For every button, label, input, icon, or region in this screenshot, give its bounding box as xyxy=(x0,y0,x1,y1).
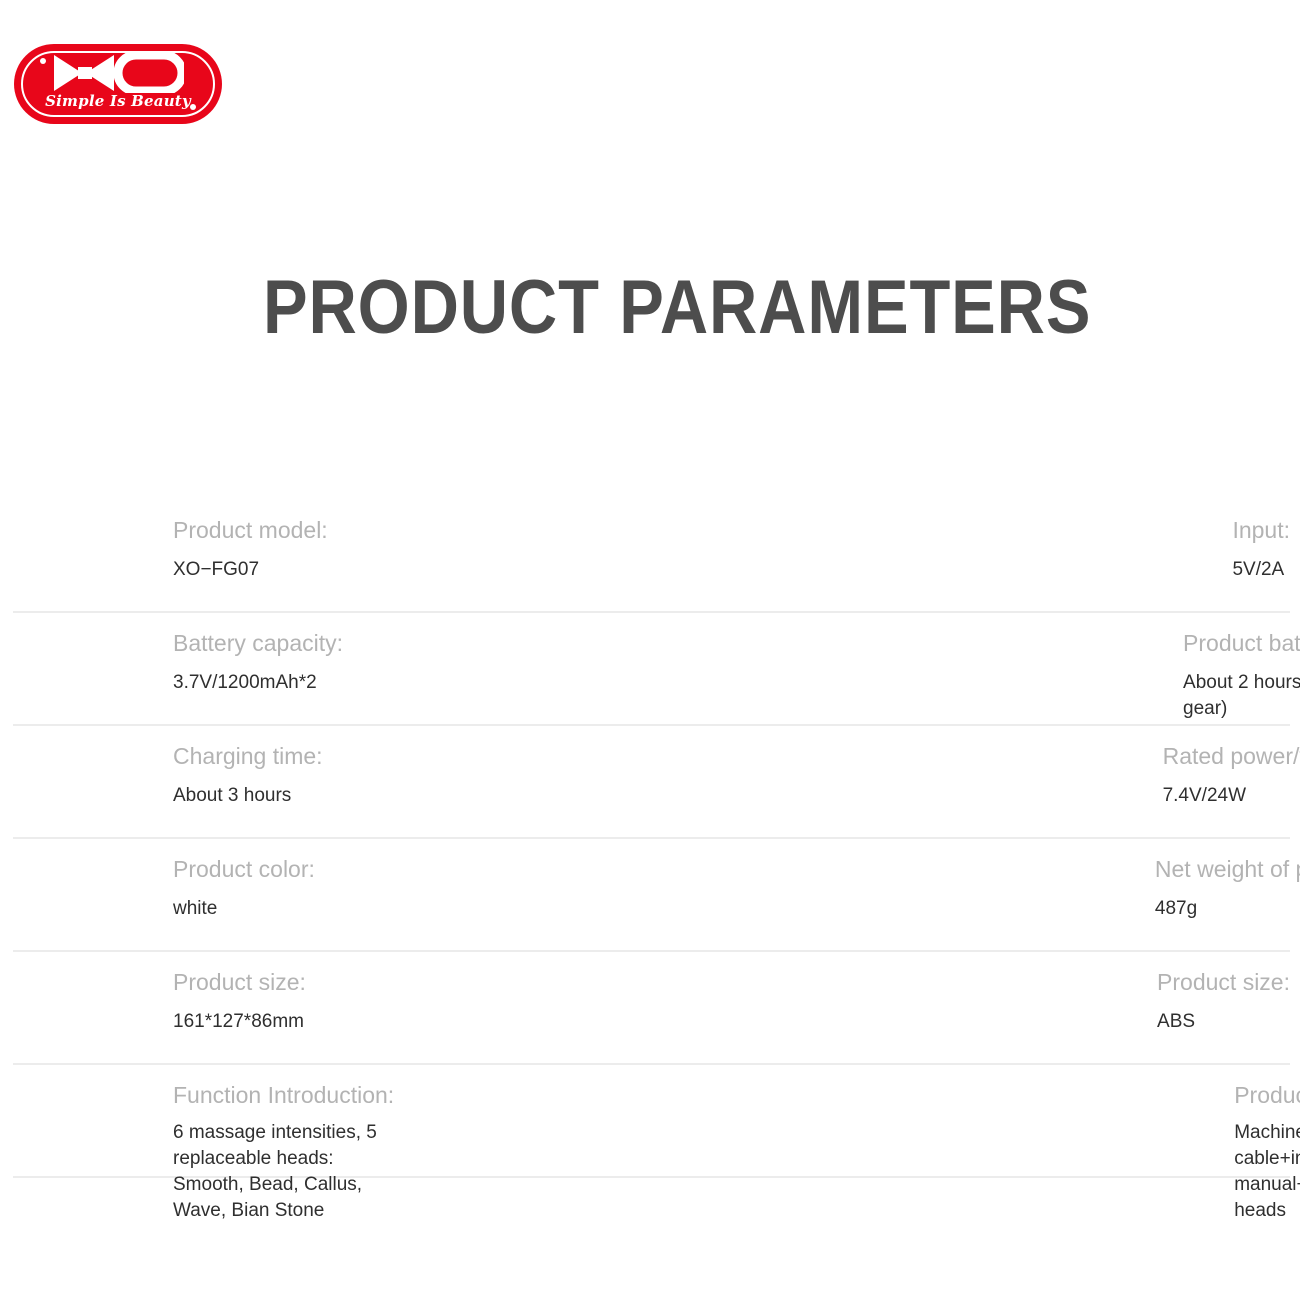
xo-brand-logo: Simple Is Beauty xyxy=(14,44,222,124)
spec-label: Charging time: xyxy=(173,741,323,771)
spec-value: 6 massage intensities, 5 replaceable hea… xyxy=(173,1120,394,1224)
spec-label: Product color: xyxy=(173,854,315,884)
spec-value: About 3 hours xyxy=(173,783,323,809)
product-parameters-table: Product model: XO−FG07 Input: 5V/2A Batt… xyxy=(13,500,1290,1178)
spec-cell-right: Net weight of product: 487g xyxy=(315,839,1300,950)
spec-cell-left: Product model: XO−FG07 xyxy=(13,500,392,611)
spec-cell-left: Charging time: About 3 hours xyxy=(13,726,323,837)
spec-value: white xyxy=(173,896,315,922)
spec-value: 161*127*86mm xyxy=(173,1009,317,1035)
spec-label: Input: xyxy=(1232,515,1290,545)
spec-value: About 2 hours (lowest gear) xyxy=(1183,670,1300,722)
spec-label: Rated power/voltage: xyxy=(1163,741,1300,771)
spec-label: Battery capacity: xyxy=(173,628,343,658)
spec-row: Charging time: About 3 hours Rated power… xyxy=(13,726,1290,839)
spec-cell-right: Product accessories: Machine+charging ca… xyxy=(394,1065,1300,1176)
xo-monogram-icon xyxy=(14,53,222,93)
spec-cell-right: Product size: ABS xyxy=(317,952,1290,1063)
spec-cell-right: Product battery life: About 2 hours (low… xyxy=(343,613,1300,724)
spec-label: Product size: xyxy=(1157,967,1290,997)
spec-value: Machine+charging cable+instruction manua… xyxy=(1234,1120,1300,1224)
spec-row: Product color: white Net weight of produ… xyxy=(13,839,1290,952)
spec-value: ABS xyxy=(1157,1009,1290,1035)
spec-value: 3.7V/1200mAh*2 xyxy=(173,670,343,696)
spec-label: Net weight of product: xyxy=(1155,854,1300,884)
spec-row: Function Introduction: 6 massage intensi… xyxy=(13,1065,1290,1178)
page-title: PRODUCT PARAMETERS xyxy=(263,266,1091,350)
spec-cell-left: Function Introduction: 6 massage intensi… xyxy=(13,1065,394,1176)
spec-label: Product accessories: xyxy=(1234,1080,1300,1110)
spec-value: XO−FG07 xyxy=(173,557,392,583)
spec-row: Product size: 161*127*86mm Product size:… xyxy=(13,952,1290,1065)
spec-value: 5V/2A xyxy=(1232,557,1290,583)
spec-cell-left: Product color: white xyxy=(13,839,315,950)
spec-row: Product model: XO−FG07 Input: 5V/2A xyxy=(13,500,1290,613)
spec-label: Function Introduction: xyxy=(173,1080,394,1110)
spec-cell-right: Input: 5V/2A xyxy=(392,500,1290,611)
spec-value: 487g xyxy=(1155,896,1300,922)
spec-label: Product size: xyxy=(173,967,317,997)
spec-value: 7.4V/24W xyxy=(1163,783,1300,809)
logo-tagline: Simple Is Beauty xyxy=(14,92,222,110)
spec-cell-left: Product size: 161*127*86mm xyxy=(13,952,317,1063)
spec-cell-right: Rated power/voltage: 7.4V/24W xyxy=(323,726,1300,837)
product-parameters-page: { "brand": { "logo_text": "XO", "tagline… xyxy=(0,0,1300,1300)
spec-row: Battery capacity: 3.7V/1200mAh*2 Product… xyxy=(13,613,1290,726)
spec-label: Product model: xyxy=(173,515,392,545)
spec-cell-left: Battery capacity: 3.7V/1200mAh*2 xyxy=(13,613,343,724)
spec-label: Product battery life: xyxy=(1183,628,1300,658)
